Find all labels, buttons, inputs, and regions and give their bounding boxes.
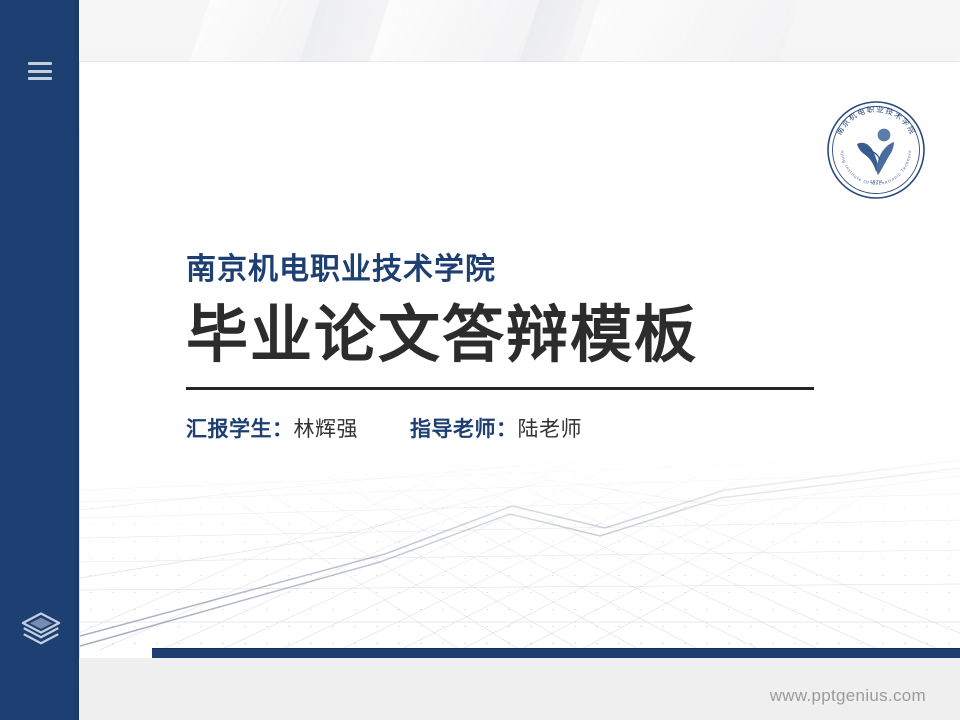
university-seal-logo: 南京机电职业技术学院 Nanjing Institute Of Mechatro…	[824, 98, 928, 202]
supervising-teacher-label: 指导老师：	[410, 413, 518, 443]
hamburger-bar	[28, 77, 52, 80]
title-block: 南京机电职业技术学院 毕业论文答辩模板 汇报学生： 林辉强 指导老师： 陆老师	[186, 252, 906, 443]
supervising-teacher-value: 陆老师	[518, 413, 583, 443]
hamburger-bar	[28, 70, 52, 73]
hamburger-bar	[28, 62, 52, 65]
footer-website-url[interactable]: www.pptgenius.com	[770, 686, 926, 706]
mesh-dot-grid	[80, 465, 960, 650]
presentation-slide: 南京机电职业技术学院 Nanjing Institute Of Mechatro…	[80, 62, 960, 658]
hamburger-menu-icon[interactable]	[28, 62, 52, 80]
sidebar-edge-shadow	[73, 0, 79, 720]
reporting-student-label: 汇报学生：	[186, 413, 294, 443]
svg-text:1978: 1978	[870, 179, 883, 184]
reporting-student-value: 林辉强	[294, 413, 359, 443]
slide-bottom-accent-bar	[152, 648, 960, 658]
left-sidebar	[0, 0, 79, 720]
slide-viewer: 南京机电职业技术学院 Nanjing Institute Of Mechatro…	[0, 0, 960, 720]
layers-stack-icon[interactable]	[20, 610, 62, 648]
supervising-teacher: 指导老师： 陆老师	[410, 413, 582, 443]
title-divider	[186, 387, 814, 390]
page-title: 毕业论文答辩模板	[186, 300, 906, 369]
reporting-student: 汇报学生： 林辉强	[186, 413, 358, 443]
svg-text:南京机电职业技术学院: 南京机电职业技术学院	[834, 104, 919, 137]
organization-name: 南京机电职业技术学院	[186, 252, 906, 288]
people-row: 汇报学生： 林辉强 指导老师： 陆老师	[186, 413, 906, 443]
